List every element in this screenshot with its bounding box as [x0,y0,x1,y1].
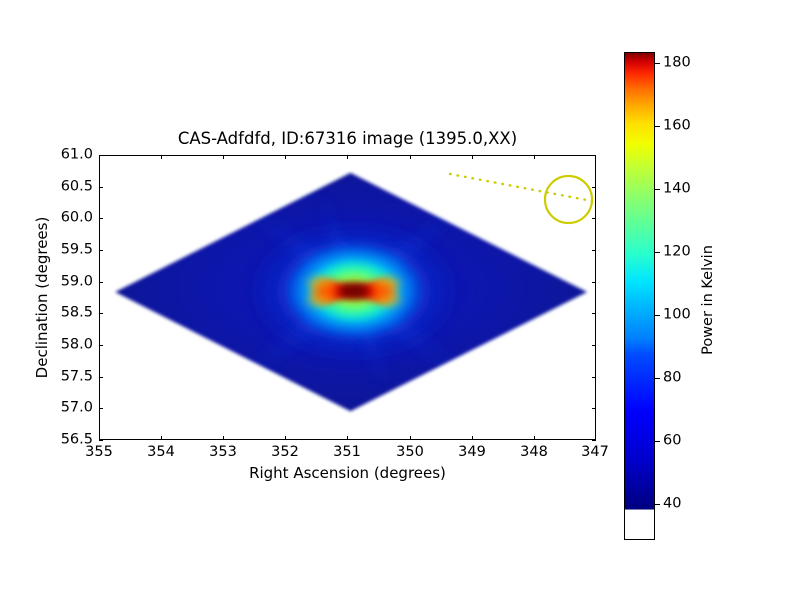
xtick-label-351: 351 [333,444,361,461]
sky-image-heatmap [100,156,595,439]
colorbar-tick-100 [655,315,660,316]
ytick-60-5 [99,187,103,188]
ytick-56-5 [99,440,103,441]
ytick-right-60-5 [592,187,596,188]
xtick-label-354: 354 [147,444,175,461]
xtick-bottom-348 [534,436,535,440]
colorbar-label-120: 120 [663,244,691,261]
xtick-350 [410,155,411,159]
colorbar-tick-160 [655,126,660,127]
colorbar-label-60: 60 [663,433,681,450]
colorbar-tick-120 [655,252,660,253]
ytick-label-57-5: 57.5 [61,369,93,386]
ytick-60-0 [99,218,103,219]
xtick-label-353: 353 [209,444,237,461]
xtick-349 [472,155,473,159]
ytick-57-5 [99,377,103,378]
y-axis-label: Declination (degrees) [33,155,51,440]
xtick-label-348: 348 [520,444,548,461]
ytick-label-60-5: 60.5 [61,179,93,196]
colorbar-gradient [625,53,654,539]
xtick-351 [347,155,348,159]
xtick-348 [534,155,535,159]
colorbar-tick-140 [655,189,660,190]
ytick-label-59-5: 59.5 [61,242,93,259]
page-title: CAS-Adfdfd, ID:67316 image (1395.0,XX) [99,129,596,149]
xtick-label-347: 347 [581,444,609,461]
colorbar-label-160: 160 [663,118,691,135]
ytick-61-0 [99,155,103,156]
xtick-bottom-352 [285,436,286,440]
xtick-label-349: 349 [458,444,486,461]
ytick-right-60-0 [592,218,596,219]
ytick-59-5 [99,250,103,251]
ytick-right-59-5 [592,250,596,251]
ytick-label-61-0: 61.0 [61,147,93,164]
xtick-bottom-350 [410,436,411,440]
ytick-label-58-5: 58.5 [61,305,93,322]
colorbar-tick-40 [655,504,660,505]
colorbar-tick-80 [655,378,660,379]
colorbar-axis-label: Power in Kelvin [700,100,716,500]
ytick-right-57-5 [592,377,596,378]
ytick-label-60-0: 60.0 [61,210,93,227]
ytick-right-57-0 [592,408,596,409]
colorbar-label-80: 80 [663,370,681,387]
ytick-right-59-0 [592,282,596,283]
ytick-59-0 [99,282,103,283]
xtick-bottom-351 [347,436,348,440]
figure-canvas: CAS-Adfdfd, ID:67316 image (1395.0,XX) [0,0,800,600]
ytick-right-61-0 [592,155,596,156]
colorbar-label-100: 100 [663,307,691,324]
xtick-bottom-354 [161,436,162,440]
ytick-label-58-0: 58.0 [61,337,93,354]
ytick-57-0 [99,408,103,409]
colorbar-label-40: 40 [663,496,681,513]
ytick-label-57-0: 57.0 [61,400,93,417]
ytick-right-58-5 [592,313,596,314]
sky-image-axes[interactable] [99,155,596,440]
xtick-bottom-349 [472,436,473,440]
xtick-label-352: 352 [271,444,299,461]
ytick-right-56-5 [592,440,596,441]
xtick-354 [161,155,162,159]
ytick-label-56-5: 56.5 [61,432,93,449]
x-axis-label: Right Ascension (degrees) [99,464,596,482]
colorbar-label-180: 180 [663,55,691,72]
xtick-352 [285,155,286,159]
colorbar-tick-60 [655,441,660,442]
xtick-353 [223,155,224,159]
ytick-right-58-0 [592,345,596,346]
ytick-58-5 [99,313,103,314]
xtick-label-350: 350 [396,444,424,461]
xtick-bottom-353 [223,436,224,440]
colorbar-label-140: 140 [663,181,691,198]
colorbar[interactable] [624,52,655,540]
ytick-58-0 [99,345,103,346]
colorbar-tick-180 [655,63,660,64]
ytick-label-59-0: 59.0 [61,274,93,291]
